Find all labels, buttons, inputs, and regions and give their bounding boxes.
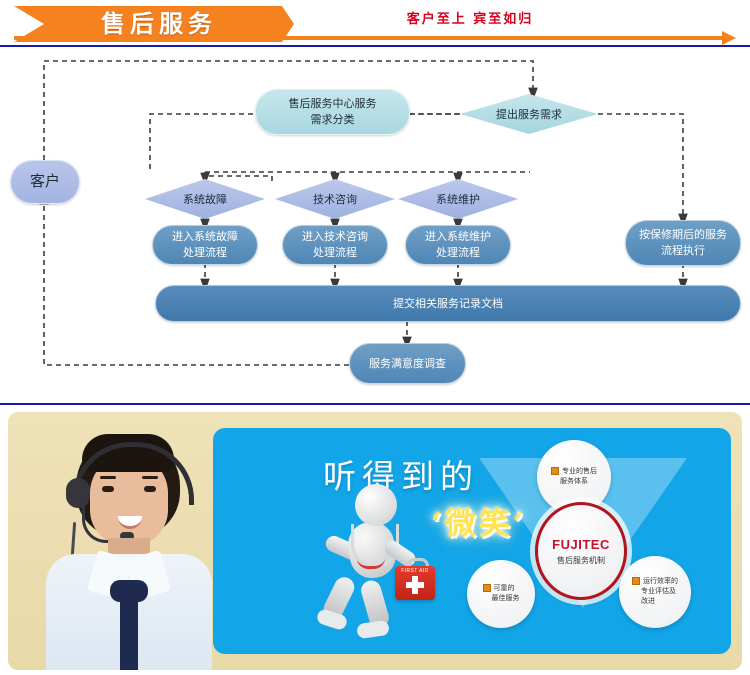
node-submit-service-documents[interactable]: 提交相关服务记录文档: [155, 285, 741, 322]
node-process-maintain-line2: 处理流程: [436, 245, 480, 261]
triad-top-line2: 服务体系: [560, 478, 588, 485]
node-process-system-fault[interactable]: 进入系统故障 处理流程: [152, 225, 258, 265]
triad-bl-line2: 最佳服务: [492, 595, 520, 602]
node-warranty-line2: 流程执行: [661, 243, 705, 259]
fujitec-service-triad-diagram: 专业的售后 服务体系 可靠的 最佳服务 运行效率的 专业评估及 改进 FUJIT…: [443, 432, 723, 652]
node-classify-line1: 售后服务中心服务: [289, 96, 377, 112]
node-customer-label: 客户: [30, 174, 60, 190]
triad-circle-efficiency-evaluation[interactable]: 运行效率的 专业评估及 改进: [619, 556, 691, 628]
triad-top-line1: 专业的售后: [562, 468, 597, 475]
first-aid-kit-label: FIRST AID: [397, 568, 433, 574]
node-warranty-line1: 按保修期后的服务: [639, 227, 727, 243]
triad-br-line3: 改进: [641, 598, 655, 605]
header-slogan: 客户至上 宾至如归: [355, 8, 585, 27]
triad-bottom-right-text: 运行效率的 专业评估及 改进: [632, 577, 678, 607]
node-decision-system-maintain[interactable]: 系统维护: [398, 179, 518, 219]
running-service-figure: FIRST AID: [313, 484, 433, 634]
medical-cross-icon-h: [406, 582, 424, 588]
section-divider: [0, 403, 750, 405]
node-process-system-maintain[interactable]: 进入系统维护 处理流程: [405, 225, 511, 265]
promo-blue-panel: 听得到的 ‘微笑’ FIRST AID 专业的售后: [213, 428, 731, 654]
header-divider: [0, 45, 750, 47]
triad-bl-line1: 可靠的: [494, 585, 515, 592]
node-process-fault-line2: 处理流程: [183, 245, 227, 261]
node-process-consult-line1: 进入技术咨询: [302, 229, 368, 245]
figure-head: [355, 484, 397, 526]
header-arrow-icon: [722, 31, 736, 45]
node-maintain-label: 系统维护: [436, 191, 480, 207]
triad-circle-reliable-service[interactable]: 可靠的 最佳服务: [467, 560, 535, 628]
node-consult-label: 技术咨询: [313, 191, 357, 207]
triad-top-text: 专业的售后 服务体系: [551, 467, 597, 487]
triad-bottom-left-text: 可靠的 最佳服务: [483, 584, 520, 604]
node-service-center-classification[interactable]: 售后服务中心服务 需求分类: [255, 89, 410, 135]
node-decision-tech-consult[interactable]: 技术咨询: [275, 179, 395, 219]
bullet-icon: [551, 467, 559, 475]
brand-name: FUJITEC: [552, 537, 610, 552]
promo-banner: 听得到的 ‘微笑’ FIRST AID 专业的售后: [8, 412, 742, 670]
node-decision-system-fault[interactable]: 系统故障: [145, 179, 265, 219]
bullet-icon: [483, 584, 491, 592]
bullet-icon: [632, 577, 640, 585]
call-center-operator-photo: [38, 412, 218, 670]
node-submit-docs-label: 提交相关服务记录文档: [393, 296, 503, 312]
headset-earpiece-icon: [66, 478, 90, 508]
triad-br-line2: 专业评估及: [641, 588, 676, 595]
node-raise-service-request[interactable]: 提出服务需求: [460, 94, 598, 134]
triad-center-brand[interactable]: FUJITEC 售后服务机制: [535, 502, 627, 600]
figure-foot-right: [356, 620, 390, 639]
node-classify-line2: 需求分类: [311, 112, 355, 128]
node-post-warranty-process[interactable]: 按保修期后的服务 流程执行: [625, 220, 741, 266]
node-process-maintain-line1: 进入系统维护: [425, 229, 491, 245]
node-satisfaction-label: 服务满意度调查: [369, 356, 446, 372]
node-process-fault-line1: 进入系统故障: [172, 229, 238, 245]
node-fault-label: 系统故障: [183, 191, 227, 207]
page-header: 售后服务 客户至上 宾至如归: [0, 0, 750, 48]
node-process-consult-line2: 处理流程: [313, 245, 357, 261]
node-process-tech-consult[interactable]: 进入技术咨询 处理流程: [282, 225, 388, 265]
service-flowchart: 客户 售后服务中心服务 需求分类 提出服务需求 系统故障 技术咨询 系统维护 进…: [0, 48, 750, 393]
node-satisfaction-survey[interactable]: 服务满意度调查: [349, 343, 466, 384]
brand-subtitle: 售后服务机制: [557, 555, 605, 566]
operator-necktie: [120, 596, 138, 670]
node-raise-request-label: 提出服务需求: [496, 106, 562, 122]
header-arrow-line: [14, 36, 726, 40]
node-customer[interactable]: 客户: [10, 160, 80, 204]
triad-br-line1: 运行效率的: [643, 578, 678, 585]
